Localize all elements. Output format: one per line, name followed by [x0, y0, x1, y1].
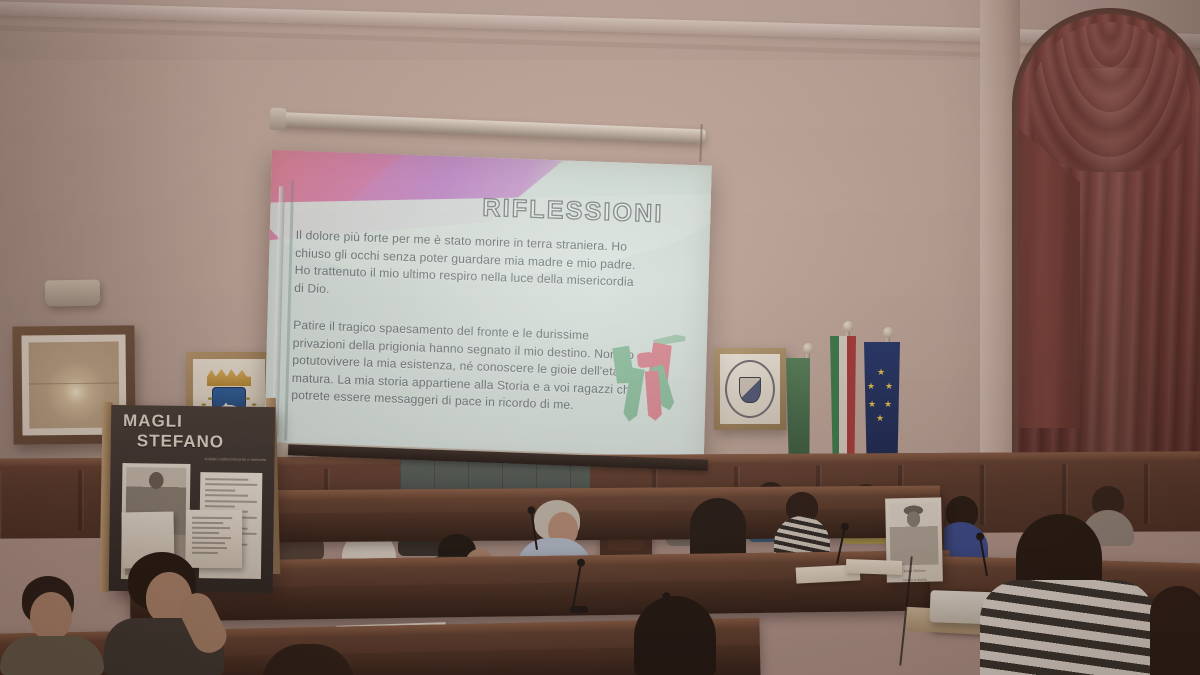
hair [634, 596, 716, 675]
slide-paragraph-1: Il dolore più forte per me è stato morir… [294, 227, 644, 309]
slide-body: Il dolore più forte per me è stato morir… [291, 227, 644, 417]
eu-star-icon: ★ [877, 368, 885, 377]
poster-line [192, 552, 218, 554]
board-name-line1: MAGLI [123, 411, 183, 431]
projection-screen: RIFLESSIONI Il dolore più forte per me è… [264, 150, 712, 476]
italian-flag-cloth [830, 336, 856, 466]
board-title: MAGLI STEFANO [123, 411, 270, 453]
poster-line [192, 537, 231, 539]
paper-sheet [846, 559, 902, 575]
eu-star-icon: ★ [884, 400, 892, 409]
torso [0, 636, 104, 675]
hair [1150, 586, 1200, 675]
doc-line [205, 484, 257, 487]
bench-back-row [260, 486, 940, 543]
doc-line [205, 489, 235, 491]
poster-line [192, 532, 219, 534]
board-name-line2: STEFANO [137, 431, 269, 453]
crown-icon [207, 369, 251, 386]
pencil-portrait-sketch [889, 503, 938, 566]
arched-window [1012, 8, 1200, 488]
pole-knob-icon [803, 343, 814, 354]
doc-line [205, 500, 257, 503]
pole-knob-icon [883, 327, 894, 338]
pole-knob-icon [843, 321, 854, 332]
slide-paragraph-2: Patire il tragico spaesamento del fronte… [291, 317, 641, 417]
ribbon-knot [637, 352, 655, 369]
seal-shield-icon [739, 377, 761, 403]
microphone-base [570, 606, 588, 613]
poster-line [192, 547, 227, 549]
seal-inner [720, 354, 780, 424]
doc-line [205, 494, 248, 497]
eu-star-icon: ★ [867, 382, 875, 391]
striped-shirt [980, 580, 1156, 675]
eu-star-icon: ★ [868, 400, 876, 409]
poster-line [192, 517, 232, 519]
photograph-scene: ★ ★ ★ ★ ★ ★ RIFLESSIONI Il dolore più fo… [0, 0, 1200, 675]
poster-line [192, 527, 230, 529]
housing-end-cap [270, 108, 287, 131]
poster-line [192, 542, 225, 544]
tricolor-ribbon-icon [610, 327, 694, 420]
poster-line [192, 522, 223, 524]
eu-star-icon: ★ [885, 382, 893, 391]
eu-star-icon: ★ [876, 414, 884, 423]
doc-line [205, 478, 248, 481]
bench-front-panel [260, 509, 940, 542]
wall-speaker-icon [45, 280, 100, 307]
doc-line [205, 505, 235, 507]
curtain-sheen [1072, 68, 1152, 488]
head [30, 592, 72, 640]
poster-text [186, 510, 243, 568]
framed-city-seal [714, 348, 786, 430]
board-side-note: soldato caduto\nricordo e memoria [205, 456, 267, 462]
